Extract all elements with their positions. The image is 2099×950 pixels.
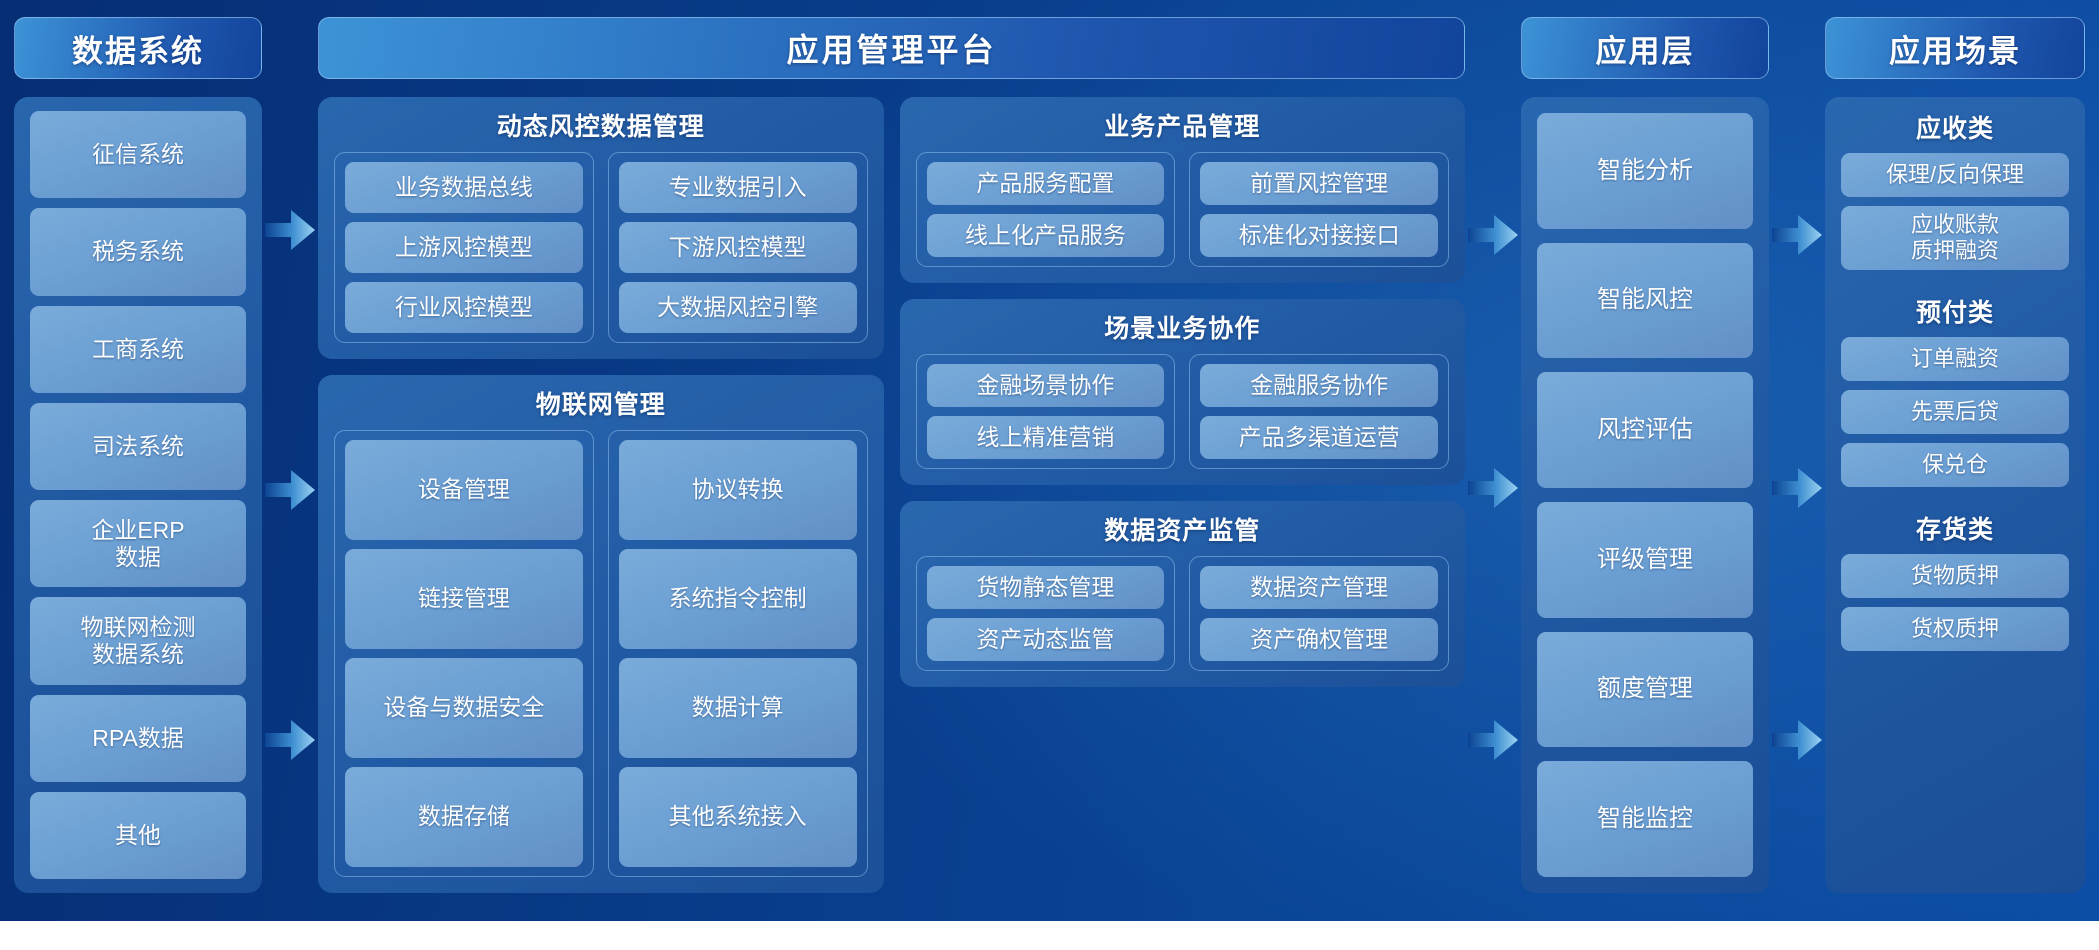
subcolumn-right: 专业数据引入 下游风控模型 大数据风控引擎 <box>608 152 868 343</box>
subcolumn-right: 数据资产管理 资产确权管理 <box>1189 556 1449 671</box>
tile-financial-scenario-collab[interactable]: 金融场景协作 <box>927 364 1165 407</box>
subcolumn-left: 货物静态管理 资产动态监管 <box>916 556 1176 671</box>
tile-online-precision-marketing[interactable]: 线上精准营销 <box>927 416 1165 459</box>
tile-rpa-data[interactable]: RPA数据 <box>30 695 246 782</box>
tile-order-financing[interactable]: 订单融资 <box>1841 337 2069 381</box>
column-application-platform: 应用管理平台 动态风控数据管理 业务数据总线 上游风控模型 行业风控模型 <box>318 17 1465 893</box>
tile-rating-management[interactable]: 评级管理 <box>1537 502 1753 618</box>
panel-application-layer: 智能分析 智能风控 风控评估 评级管理 额度管理 智能监控 <box>1521 97 1769 893</box>
group-title: 场景业务协作 <box>916 309 1450 345</box>
column-application-layer: 应用层 智能分析 智能风控 风控评估 评级管理 额度管理 智能监控 <box>1521 17 1769 893</box>
tile-commerce-system[interactable]: 工商系统 <box>30 306 246 393</box>
group-title: 动态风控数据管理 <box>334 107 868 143</box>
tile-device-data-security[interactable]: 设备与数据安全 <box>345 658 583 758</box>
tile-downstream-risk-model[interactable]: 下游风控模型 <box>619 222 857 273</box>
tile-other-system-access[interactable]: 其他系统接入 <box>619 767 857 867</box>
tile-iot-detection[interactable]: 物联网检测数据系统 <box>30 597 246 684</box>
scenario-group-title: 应收类 <box>1841 109 2069 145</box>
subcolumn-left: 产品服务配置 线上化产品服务 <box>916 152 1176 267</box>
arrow-group-platform-to-applayer <box>1465 17 1521 893</box>
tile-industry-risk-model[interactable]: 行业风控模型 <box>345 282 583 333</box>
panel-data-system: 征信系统 税务系统 工商系统 司法系统 企业ERP数据 物联网检测数据系统 RP… <box>14 97 262 893</box>
subcolumn-right: 金融服务协作 产品多渠道运营 <box>1189 354 1449 469</box>
subcolumn-wrapper: 产品服务配置 线上化产品服务 前置风控管理 标准化对接接口 <box>916 152 1450 267</box>
arrow-right-icon <box>1772 212 1822 258</box>
subcolumn-wrapper: 货物静态管理 资产动态监管 数据资产管理 资产确权管理 <box>916 556 1450 671</box>
arrow-right-icon <box>265 467 315 513</box>
tile-financial-service-collab[interactable]: 金融服务协作 <box>1200 364 1438 407</box>
header-application-platform: 应用管理平台 <box>318 17 1465 79</box>
panel-application-scenario: 应收类 保理/反向保理 应收账款质押融资 预付类 订单融资 先票后贷 保兑仓 存… <box>1825 97 2085 893</box>
tile-data-storage[interactable]: 数据存储 <box>345 767 583 867</box>
tile-goods-pledge[interactable]: 货物质押 <box>1841 554 2069 598</box>
arrow-right-icon <box>1772 465 1822 511</box>
platform-right-stack: 业务产品管理 产品服务配置 线上化产品服务 前置风控管理 标准化对接接口 <box>900 97 1466 893</box>
header-application-layer: 应用层 <box>1521 17 1769 79</box>
subcolumn-right: 协议转换 系统指令控制 数据计算 其他系统接入 <box>608 430 868 877</box>
tile-judicial-system[interactable]: 司法系统 <box>30 403 246 490</box>
arrow-group-data-to-platform <box>262 17 318 893</box>
arrow-right-icon <box>1772 717 1822 763</box>
subcolumn-left: 业务数据总线 上游风控模型 行业风控模型 <box>334 152 594 343</box>
arrow-right-icon <box>265 717 315 763</box>
tile-intelligent-riskcontrol[interactable]: 智能风控 <box>1537 243 1753 359</box>
platform-left-stack: 动态风控数据管理 业务数据总线 上游风控模型 行业风控模型 专业数据引入 下游风… <box>318 97 884 893</box>
tile-device-management[interactable]: 设备管理 <box>345 440 583 540</box>
tile-factoring[interactable]: 保理/反向保理 <box>1841 153 2069 197</box>
tile-risk-assessment[interactable]: 风控评估 <box>1537 372 1753 488</box>
tile-product-service-config[interactable]: 产品服务配置 <box>927 162 1165 205</box>
tile-receivable-pledge[interactable]: 应收账款质押融资 <box>1841 206 2069 270</box>
arrow-right-icon <box>265 207 315 253</box>
tile-goods-static-management[interactable]: 货物静态管理 <box>927 566 1165 609</box>
tile-enterprise-erp[interactable]: 企业ERP数据 <box>30 500 246 587</box>
tile-data-asset-management[interactable]: 数据资产管理 <box>1200 566 1438 609</box>
tile-note-before-loan[interactable]: 先票后贷 <box>1841 390 2069 434</box>
arrow-right-icon <box>1468 212 1518 258</box>
group-scenario-business-collaboration: 场景业务协作 金融场景协作 线上精准营销 金融服务协作 产品多渠道运营 <box>900 299 1466 485</box>
arrow-right-icon <box>1468 717 1518 763</box>
tile-system-command-control[interactable]: 系统指令控制 <box>619 549 857 649</box>
tile-bigdata-risk-engine[interactable]: 大数据风控引擎 <box>619 282 857 333</box>
scenario-group-title: 存货类 <box>1841 510 2069 546</box>
group-title: 物联网管理 <box>334 385 868 421</box>
platform-body: 动态风控数据管理 业务数据总线 上游风控模型 行业风控模型 专业数据引入 下游风… <box>318 97 1465 893</box>
group-title: 业务产品管理 <box>916 107 1450 143</box>
tile-link-management[interactable]: 链接管理 <box>345 549 583 649</box>
scenario-group-receivable: 应收类 保理/反向保理 应收账款质押融资 <box>1841 109 2069 279</box>
column-application-scenario: 应用场景 应收类 保理/反向保理 应收账款质押融资 预付类 订单融资 先票后贷 … <box>1825 17 2085 893</box>
tile-pre-risk-management[interactable]: 前置风控管理 <box>1200 162 1438 205</box>
column-data-system: 数据系统 征信系统 税务系统 工商系统 司法系统 企业ERP数据 物联网检测数据… <box>14 17 262 893</box>
header-application-scenario: 应用场景 <box>1825 17 2085 79</box>
tile-online-product-service[interactable]: 线上化产品服务 <box>927 214 1165 257</box>
subcolumn-left: 金融场景协作 线上精准营销 <box>916 354 1176 469</box>
subcolumn-left: 设备管理 链接管理 设备与数据安全 数据存储 <box>334 430 594 877</box>
subcolumn-wrapper: 业务数据总线 上游风控模型 行业风控模型 专业数据引入 下游风控模型 大数据风控… <box>334 152 868 343</box>
tile-protocol-conversion[interactable]: 协议转换 <box>619 440 857 540</box>
tile-business-data-bus[interactable]: 业务数据总线 <box>345 162 583 213</box>
group-iot-management: 物联网管理 设备管理 链接管理 设备与数据安全 数据存储 协议转换 系统指令控制 <box>318 375 884 893</box>
tile-tax-system[interactable]: 税务系统 <box>30 208 246 295</box>
tile-guaranteed-warehouse[interactable]: 保兑仓 <box>1841 443 2069 487</box>
tile-credit-limit-management[interactable]: 额度管理 <box>1537 632 1753 748</box>
tile-standard-interface[interactable]: 标准化对接接口 <box>1200 214 1438 257</box>
tile-asset-dynamic-supervision[interactable]: 资产动态监管 <box>927 618 1165 661</box>
diagram-canvas: 数据系统 征信系统 税务系统 工商系统 司法系统 企业ERP数据 物联网检测数据… <box>0 0 2099 950</box>
tile-credit-system[interactable]: 征信系统 <box>30 111 246 198</box>
tile-multichannel-operation[interactable]: 产品多渠道运营 <box>1200 416 1438 459</box>
tile-intelligent-monitoring[interactable]: 智能监控 <box>1537 761 1753 877</box>
tile-upstream-risk-model[interactable]: 上游风控模型 <box>345 222 583 273</box>
tile-cargo-right-pledge[interactable]: 货权质押 <box>1841 607 2069 651</box>
group-data-asset-supervision: 数据资产监管 货物静态管理 资产动态监管 数据资产管理 资产确权管理 <box>900 501 1466 687</box>
arrow-right-icon <box>1468 465 1518 511</box>
scenario-group-prepaid: 预付类 订单融资 先票后贷 保兑仓 <box>1841 293 2069 496</box>
subcolumn-wrapper: 设备管理 链接管理 设备与数据安全 数据存储 协议转换 系统指令控制 数据计算 … <box>334 430 868 877</box>
arrow-group-applayer-to-scenario <box>1769 17 1825 893</box>
tile-intelligent-analysis[interactable]: 智能分析 <box>1537 113 1753 229</box>
tile-asset-right-confirmation[interactable]: 资产确权管理 <box>1200 618 1438 661</box>
header-data-system: 数据系统 <box>14 17 262 79</box>
scenario-group-inventory: 存货类 货物质押 货权质押 <box>1841 510 2069 660</box>
scenario-group-title: 预付类 <box>1841 293 2069 329</box>
group-title: 数据资产监管 <box>916 511 1450 547</box>
subcolumn-right: 前置风控管理 标准化对接接口 <box>1189 152 1449 267</box>
group-dynamic-risk-data-management: 动态风控数据管理 业务数据总线 上游风控模型 行业风控模型 专业数据引入 下游风… <box>318 97 884 359</box>
tile-professional-data-import[interactable]: 专业数据引入 <box>619 162 857 213</box>
subcolumn-wrapper: 金融场景协作 线上精准营销 金融服务协作 产品多渠道运营 <box>916 354 1450 469</box>
tile-other[interactable]: 其他 <box>30 792 246 879</box>
architecture-board: 数据系统 征信系统 税务系统 工商系统 司法系统 企业ERP数据 物联网检测数据… <box>0 0 2099 921</box>
bottom-white-strip <box>0 921 2099 950</box>
group-business-product-management: 业务产品管理 产品服务配置 线上化产品服务 前置风控管理 标准化对接接口 <box>900 97 1466 283</box>
tile-data-computation[interactable]: 数据计算 <box>619 658 857 758</box>
